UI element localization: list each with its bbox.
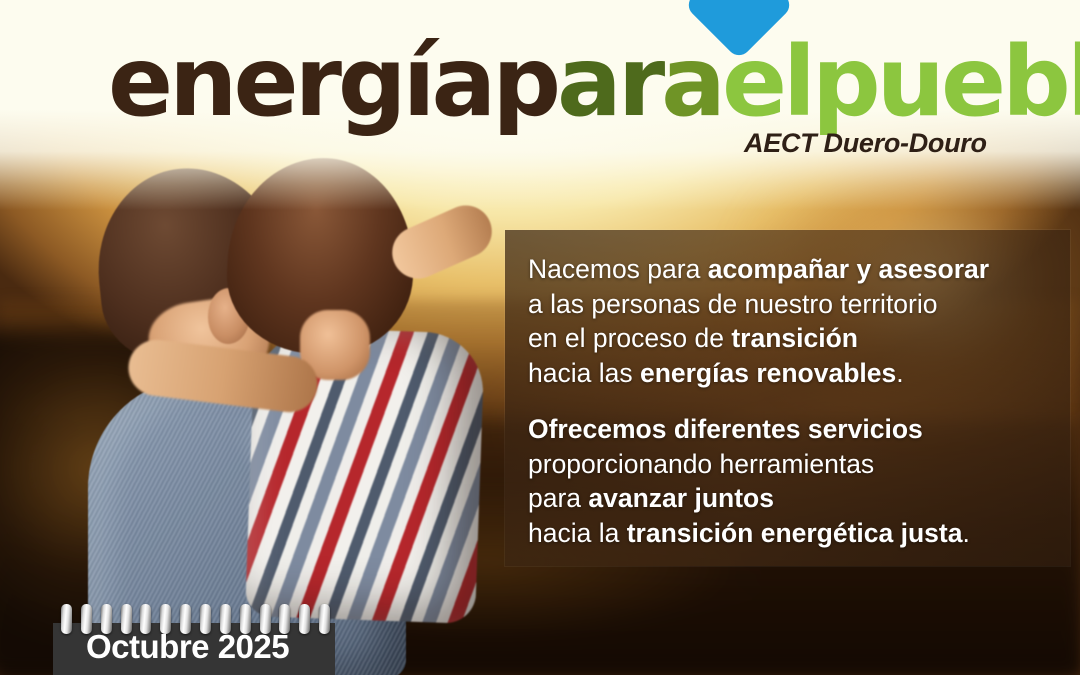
p1-line4-bold: energías renovables [640,358,896,388]
p2-line1-bold: Ofrecemos diferentes servicios [528,414,923,444]
logo-part-4: a [557,34,618,130]
p2-line3-bold: avanzar juntos [588,483,774,513]
p2-line4-tail: . [962,518,969,548]
logo-part-2: ía [403,34,493,130]
brand-header: energíaparaelpuebl AECT Duero-Douro [0,0,1080,175]
logo-part-7: el [722,34,812,130]
logo-wordmark: energíaparaelpuebl [108,34,1080,130]
paragraph-one: Nacemos para acompañar y asesorar a las … [528,252,1052,390]
calendar-widget: Octubre 2025 [53,604,335,675]
calendar-ring [299,604,310,634]
p1-line4-tail: . [896,358,903,388]
calendar-ring [319,604,330,634]
logo-part-5: r [618,34,661,130]
message-panel: Nacemos para acompañar y asesorar a las … [505,230,1070,566]
paragraph-two: Ofrecemos diferentes servicios proporcio… [528,412,1052,550]
p1-line4-plain: hacia las [528,358,640,388]
p1-line3-plain: en el proceso de [528,323,731,353]
calendar-month-label: Octubre 2025 [86,628,289,666]
logo-part-3: p [492,34,557,130]
calendar-ring [61,604,72,634]
p2-line3-plain: para [528,483,588,513]
p1-line1-bold: acompañar y asesorar [708,254,989,284]
p1-line3-bold: transición [731,323,858,353]
p2-line2: proporcionando herramientas [528,449,874,479]
logo-part-1: energ [108,34,403,130]
logo-part-6: a [661,34,722,130]
p1-line1-plain: Nacemos para [528,254,708,284]
logo-part-8: puebl [812,34,1080,130]
p2-line4-plain: hacia la [528,518,627,548]
brand-subtitle: AECT Duero-Douro [744,128,987,159]
p2-line4-bold: transición energética justa [627,518,963,548]
p1-line2: a las personas de nuestro territorio [528,289,938,319]
poster: energíaparaelpuebl AECT Duero-Douro Nace… [0,0,1080,675]
